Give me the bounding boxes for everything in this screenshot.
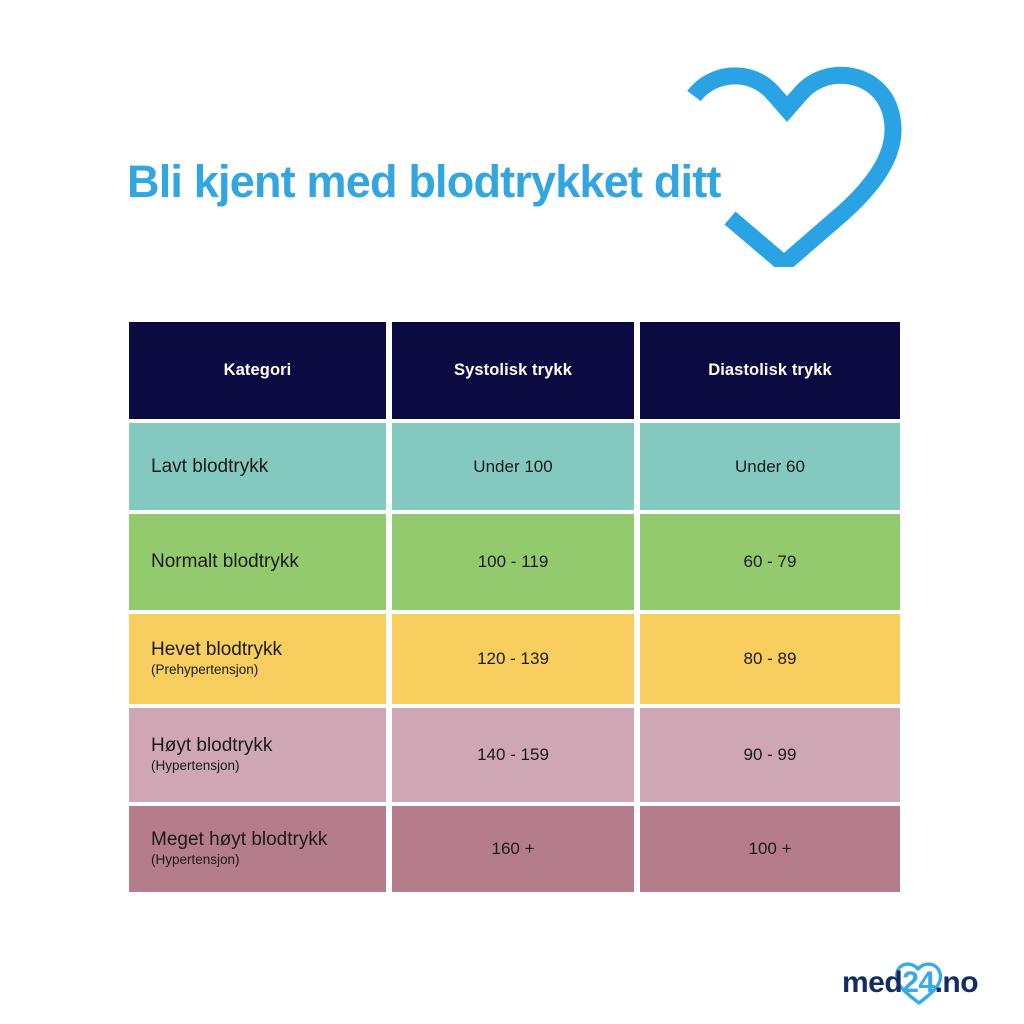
cell-diastolisk: 90 - 99: [640, 708, 900, 802]
category-sublabel: (Hypertensjon): [151, 852, 240, 868]
page-title: Bli kjent med blodtrykket ditt: [127, 158, 887, 205]
cell-systolisk: 140 - 159: [392, 708, 634, 802]
cell-systolisk: Under 100: [392, 423, 634, 510]
cell-diastolisk: 100 +: [640, 806, 900, 892]
header-area: Bli kjent med blodtrykket ditt: [0, 0, 1024, 300]
logo-text-24: 24: [902, 966, 934, 999]
cell-systolisk: 100 - 119: [392, 514, 634, 610]
cell-kategori: Høyt blodtrykk (Hypertensjon): [129, 708, 386, 802]
column-header-diastolisk: Diastolisk trykk: [640, 322, 900, 419]
cell-kategori: Hevet blodtrykk (Prehypertensjon): [129, 614, 386, 704]
cell-kategori: Lavt blodtrykk: [129, 423, 386, 510]
cell-diastolisk: Under 60: [640, 423, 900, 510]
category-label: Hevet blodtrykk: [151, 639, 282, 661]
logo-text-no: .no: [935, 966, 979, 999]
cell-systolisk: 160 +: [392, 806, 634, 892]
cell-kategori: Normalt blodtrykk: [129, 514, 386, 610]
logo-text-med: med: [842, 966, 902, 999]
table-row: Hevet blodtrykk (Prehypertensjon) 120 - …: [129, 614, 900, 704]
column-header-systolisk: Systolisk trykk: [392, 322, 634, 419]
category-label: Normalt blodtrykk: [151, 551, 299, 573]
cell-diastolisk: 80 - 89: [640, 614, 900, 704]
category-sublabel: (Hypertensjon): [151, 758, 240, 774]
table-header-row: Kategori Systolisk trykk Diastolisk tryk…: [129, 322, 900, 419]
category-label: Høyt blodtrykk: [151, 735, 272, 757]
cell-kategori: Meget høyt blodtrykk (Hypertensjon): [129, 806, 386, 892]
cell-systolisk: 120 - 139: [392, 614, 634, 704]
table-row: Høyt blodtrykk (Hypertensjon) 140 - 159 …: [129, 708, 900, 802]
category-sublabel: (Prehypertensjon): [151, 662, 258, 678]
table-row: Normalt blodtrykk 100 - 119 60 - 79: [129, 514, 900, 610]
brand-logo: med24.no: [842, 963, 988, 1005]
category-label: Meget høyt blodtrykk: [151, 829, 327, 851]
table-row: Meget høyt blodtrykk (Hypertensjon) 160 …: [129, 806, 900, 892]
category-label: Lavt blodtrykk: [151, 456, 268, 478]
cell-diastolisk: 60 - 79: [640, 514, 900, 610]
logo-wordmark: med24.no: [842, 966, 978, 1000]
table-row: Lavt blodtrykk Under 100 Under 60: [129, 423, 900, 510]
blood-pressure-table: Kategori Systolisk trykk Diastolisk tryk…: [129, 322, 900, 892]
column-header-kategori: Kategori: [129, 322, 386, 419]
